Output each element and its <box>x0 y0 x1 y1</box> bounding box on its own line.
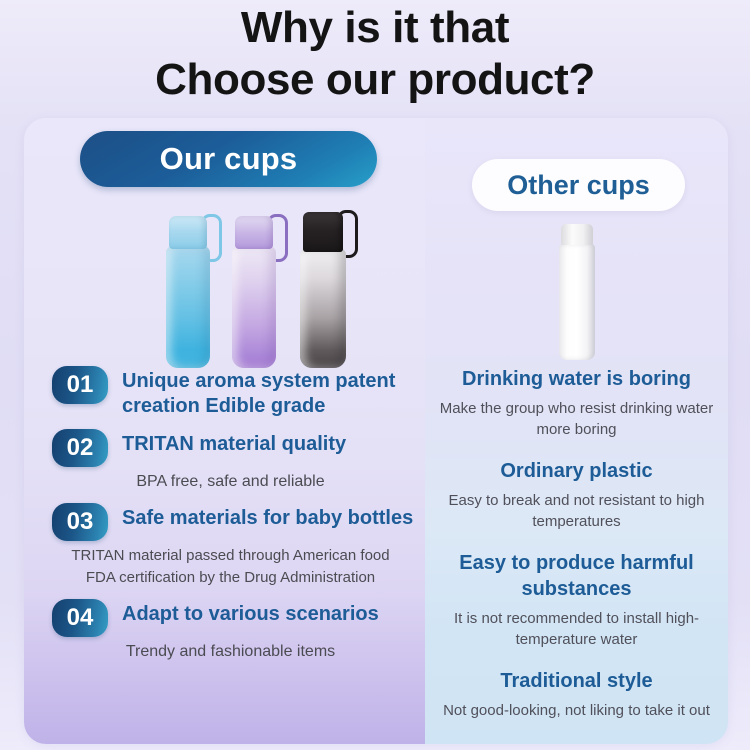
feature-title: Adapt to various scenarios <box>108 599 379 627</box>
our-cups-badge: Our cups <box>80 131 377 187</box>
feature-subtitle: TRITAN material passed through American … <box>24 541 425 589</box>
feature-item-03: 03 Safe materials for baby bottles TRITA… <box>24 503 425 589</box>
bottle-body <box>300 248 346 368</box>
drawback-item-3: Easy to produce harmful substances It is… <box>425 550 728 650</box>
aroma-bottle-blue <box>166 216 210 368</box>
aroma-bottle-purple <box>232 216 276 368</box>
feature-title: Safe materials for baby bottles <box>108 503 413 531</box>
feature-number-badge: 03 <box>52 503 108 541</box>
spacer <box>425 532 728 550</box>
bottle-body <box>559 244 595 360</box>
feature-number-badge: 02 <box>52 429 108 467</box>
drawback-item-2: Ordinary plastic Easy to break and not r… <box>425 458 728 532</box>
our-cups-panel: Our cups 01 Unique <box>24 118 425 744</box>
spacer <box>425 650 728 668</box>
bottle-cap <box>561 224 593 245</box>
bottle-cap <box>303 212 343 252</box>
headline-line-2: Choose our product? <box>0 54 750 106</box>
other-cups-panel: Other cups Drinking water is boring Make… <box>425 118 728 744</box>
plain-plastic-bottle <box>559 224 595 360</box>
our-cups-product-images <box>24 200 425 368</box>
drawback-item-1: Drinking water is boring Make the group … <box>425 366 728 440</box>
drawback-subtitle: It is not recommended to install high-te… <box>425 602 728 650</box>
feature-title: Unique aroma system patent creation Edib… <box>108 366 425 419</box>
feature-subtitle: Trendy and fashionable items <box>24 637 425 663</box>
feature-item-04: 04 Adapt to various scenarios Trendy and… <box>24 599 425 663</box>
drawback-title: Ordinary plastic <box>425 458 728 484</box>
bottle-body <box>166 246 210 368</box>
bottle-cap <box>235 216 273 249</box>
feature-item-01: 01 Unique aroma system patent creation E… <box>24 366 425 419</box>
drawback-subtitle: Not good-looking, not liking to take it … <box>425 694 728 721</box>
drawback-item-4: Traditional style Not good-looking, not … <box>425 668 728 721</box>
bottle-cap <box>169 216 207 249</box>
comparison-card: Our cups 01 Unique <box>24 118 728 744</box>
drawback-title: Drinking water is boring <box>425 366 728 392</box>
other-cups-drawback-list: Drinking water is boring Make the group … <box>425 366 728 721</box>
our-cups-feature-list: 01 Unique aroma system patent creation E… <box>24 366 425 673</box>
our-cups-badge-label: Our cups <box>160 141 298 177</box>
headline-line-1: Why is it that <box>0 2 750 54</box>
drawback-subtitle: Easy to break and not resistant to high … <box>425 484 728 532</box>
bottle-body <box>232 246 276 368</box>
other-cups-badge: Other cups <box>472 159 685 211</box>
drawback-title: Easy to produce harmful substances <box>425 550 728 602</box>
feature-number-badge: 04 <box>52 599 108 637</box>
spacer <box>425 440 728 458</box>
page-title: Why is it that Choose our product? <box>0 0 750 106</box>
other-cups-badge-label: Other cups <box>507 170 650 201</box>
drawback-subtitle: Make the group who resist drinking water… <box>425 392 728 440</box>
feature-subtitle: BPA free, safe and reliable <box>24 467 425 493</box>
feature-item-02: 02 TRITAN material quality BPA free, saf… <box>24 429 425 493</box>
drawback-title: Traditional style <box>425 668 728 694</box>
feature-number-badge: 01 <box>52 366 108 404</box>
feature-title: TRITAN material quality <box>108 429 346 457</box>
aroma-bottle-black <box>300 212 346 368</box>
